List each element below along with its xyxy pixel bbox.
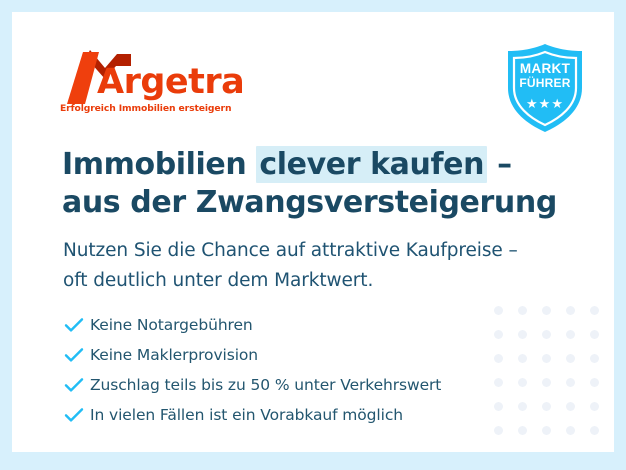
list-item-label: Keine Notargebühren xyxy=(90,316,253,334)
grid-dot xyxy=(566,426,575,435)
badge-line-2: FÜHRER xyxy=(501,76,589,90)
badge-line-1: MARKT xyxy=(501,62,589,76)
list-item-label: Keine Maklerprovision xyxy=(90,346,258,364)
logo-wordmark: Argetra xyxy=(97,65,244,100)
grid-dot xyxy=(566,306,575,315)
grid-dot xyxy=(566,402,575,411)
headline-highlight: clever kaufen xyxy=(256,146,487,183)
benefits-list: Keine Notargebühren Keine Maklerprovisio… xyxy=(64,310,534,430)
check-icon xyxy=(64,317,90,333)
list-item: Zuschlag teils bis zu 50 % unter Verkehr… xyxy=(64,370,534,400)
list-item-label: Zuschlag teils bis zu 50 % unter Verkehr… xyxy=(90,376,441,394)
headline-text-before: Immobilien xyxy=(62,147,256,182)
grid-dot xyxy=(590,426,599,435)
list-item: Keine Notargebühren xyxy=(64,310,534,340)
argetra-logo[interactable]: Argetra Erfolgreich Immobilien ersteiger… xyxy=(59,42,239,120)
grid-dot xyxy=(542,402,551,411)
grid-dot xyxy=(590,354,599,363)
headline-line-2: aus der Zwangsversteigerung xyxy=(62,184,557,222)
headline-line-1: Immobilien clever kaufen – xyxy=(62,146,557,184)
check-icon xyxy=(64,347,90,363)
grid-dot xyxy=(542,354,551,363)
grid-dot xyxy=(542,330,551,339)
grid-dot xyxy=(566,354,575,363)
grid-dot xyxy=(542,426,551,435)
grid-dot xyxy=(590,378,599,387)
grid-dot xyxy=(566,378,575,387)
grid-dot xyxy=(566,330,575,339)
page-title: Immobilien clever kaufen – aus der Zwang… xyxy=(62,146,557,222)
grid-dot xyxy=(542,378,551,387)
list-item: Keine Maklerprovision xyxy=(64,340,534,370)
check-icon xyxy=(64,407,90,423)
banner-card: Argetra Erfolgreich Immobilien ersteiger… xyxy=(12,12,614,452)
subtitle-line-1: Nutzen Sie die Chance auf attraktive Kau… xyxy=(63,236,518,266)
market-leader-badge: MARKT FÜHRER ★★★ xyxy=(501,42,589,134)
logo-tagline: Erfolgreich Immobilien ersteigern xyxy=(60,103,231,114)
page-subtitle: Nutzen Sie die Chance auf attraktive Kau… xyxy=(63,236,518,296)
headline-text-after: – xyxy=(487,147,512,182)
list-item-label: In vielen Fällen ist ein Vorabkauf mögli… xyxy=(90,406,403,424)
badge-stars: ★★★ xyxy=(501,96,589,112)
subtitle-line-2: oft deutlich unter dem Marktwert. xyxy=(63,266,518,296)
grid-dot xyxy=(590,330,599,339)
grid-dot xyxy=(590,306,599,315)
check-icon xyxy=(64,377,90,393)
list-item: In vielen Fällen ist ein Vorabkauf mögli… xyxy=(64,400,534,430)
grid-dot xyxy=(590,402,599,411)
badge-text: MARKT FÜHRER xyxy=(501,62,589,90)
promo-banner: Argetra Erfolgreich Immobilien ersteiger… xyxy=(0,0,626,470)
grid-dot xyxy=(542,306,551,315)
